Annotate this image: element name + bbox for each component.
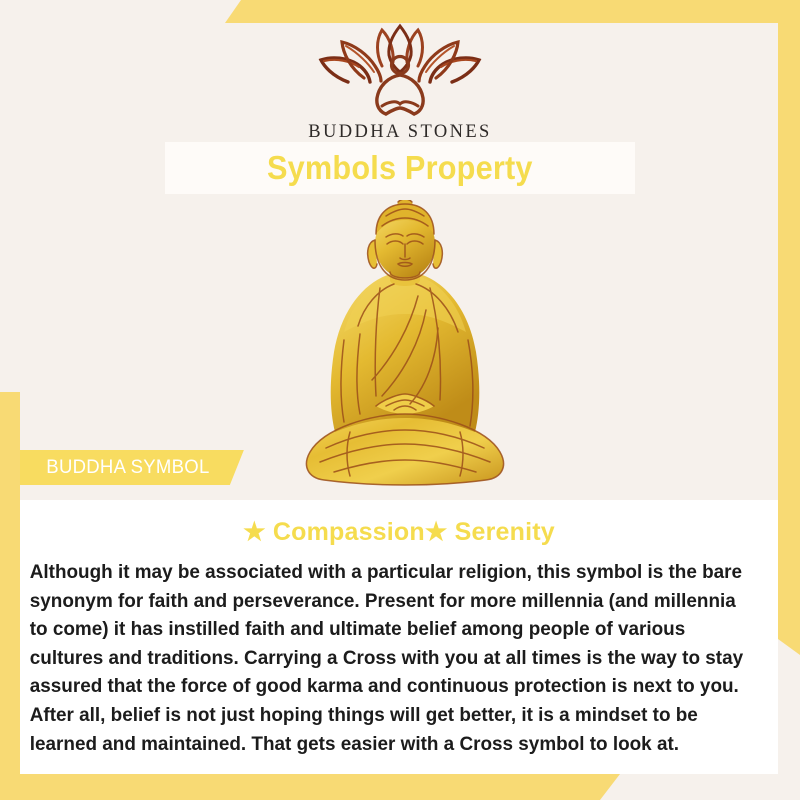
symbol-category-tag: BUDDHA SYMBOL — [20, 450, 244, 485]
symbol-category-label: BUDDHA SYMBOL — [46, 456, 209, 479]
title-banner: Symbols Property — [165, 142, 635, 194]
brand-logo: BUDDHA STONES — [0, 20, 800, 143]
page-title: Symbols Property — [267, 149, 533, 187]
lotus-meditation-figure-icon — [310, 20, 490, 118]
traits-heading: ★ Compassion★ Serenity — [20, 517, 778, 547]
body-paragraph: Although it may be associated with a par… — [20, 558, 759, 758]
content-panel: ★ Compassion★ Serenity Although it may b… — [20, 500, 778, 774]
seated-golden-buddha-icon — [290, 200, 520, 500]
brand-wordmark: BUDDHA STONES — [0, 122, 800, 143]
frame-bottom-accent-bar — [0, 774, 620, 800]
frame-left-accent-bar — [0, 392, 20, 800]
infographic-page: BUDDHA STONES Symbols Property — [0, 0, 800, 800]
